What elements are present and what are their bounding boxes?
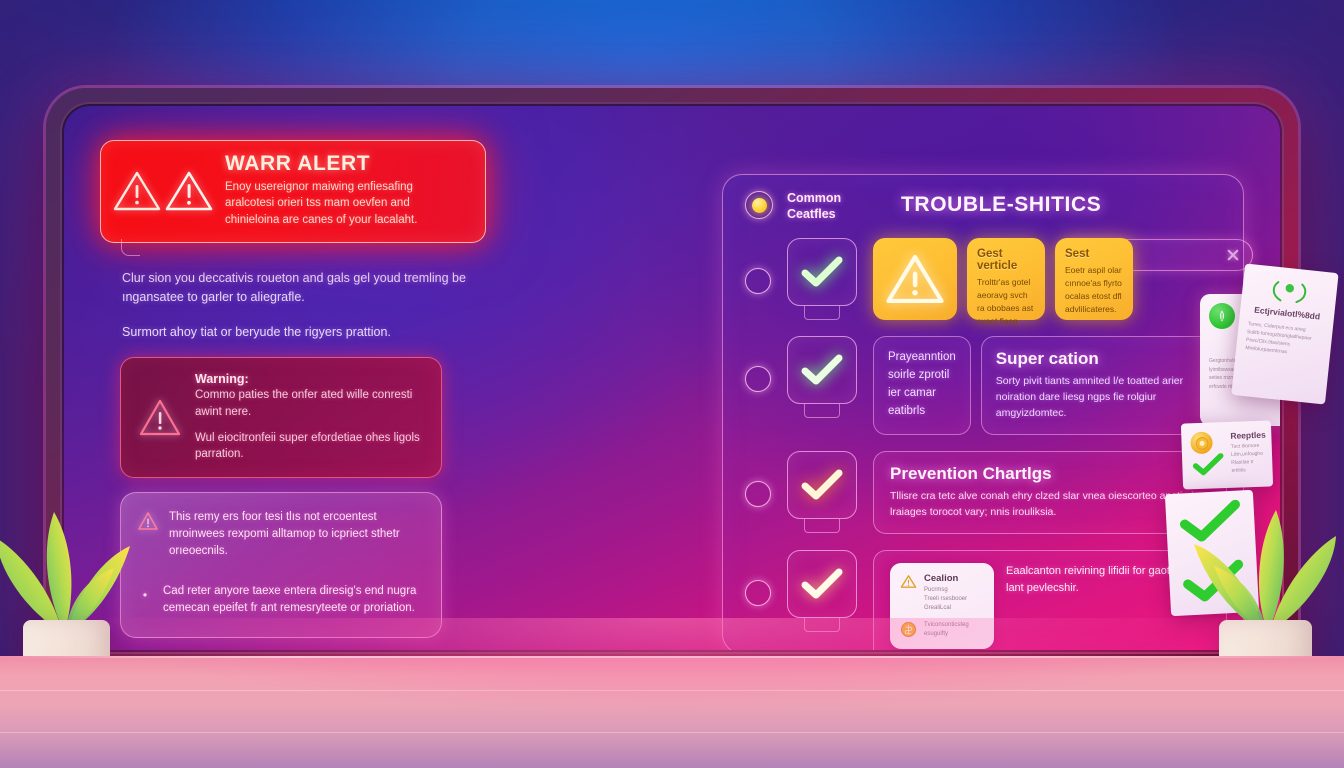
alert-body: Enoy usereignor maiwing enfiesafing aral… — [225, 179, 465, 228]
warning-triangle-icon — [883, 248, 947, 310]
screen: WARR ALERT Enoy usereignor maiwing enfie… — [64, 106, 1280, 650]
alert-text-group: WARR ALERT Enoy usereignor maiwing enfie… — [215, 153, 465, 228]
monitor-bezel: WARR ALERT Enoy usereignor maiwing enfie… — [46, 88, 1298, 668]
warning-triangle-icon — [137, 397, 183, 439]
checklist-row: Gest verticle Trolttr'as gotel aeoravg s… — [739, 238, 1227, 320]
sticky-note-receipts[interactable]: Reeptles Tuct tliomore Ldtn,unfougho Rla… — [1181, 420, 1273, 489]
checkbox-card-2[interactable] — [787, 336, 857, 418]
chip-sub: Tviconsonticsteg esuguifty — [924, 621, 969, 640]
note-item-text: Cad reter anyore taexe entera diresig's … — [163, 583, 423, 618]
prevention-small-card-text: Prayeanntion soirle zprotil ier camar ea… — [888, 349, 956, 420]
chip-line-caution: Cealion Pucrmsg Treeli rsesbooer GrealiL… — [900, 573, 984, 614]
yellow-card-title: Sest — [1065, 248, 1123, 260]
note-item: This remy ers foor tesi tlıs not ercoent… — [137, 509, 423, 561]
check-mark-icon — [1191, 453, 1226, 476]
chip-line-coin: Tviconsonticsteg esuguifty — [900, 621, 984, 640]
intro-paragraph-1: Clur sion you deccativis roueton and gal… — [122, 269, 478, 307]
yellow-card-title: Gest verticle — [977, 248, 1035, 272]
notes-card: This remy ers foor tesi tlıs not ercoent… — [120, 492, 442, 638]
desk-floor — [0, 656, 1344, 768]
green-leaf-badge — [1209, 303, 1235, 329]
checkbox-card-1[interactable] — [787, 238, 857, 320]
warning-triangle-icon — [111, 168, 163, 214]
checklist-row: Cealion Pucrmsg Treeli rsesbooer GrealiL… — [739, 550, 1227, 650]
row-1-content: Gest verticle Trolttr'as gotel aeoravg s… — [873, 238, 1227, 320]
yellow-warning-card — [873, 238, 957, 320]
radio-button-row-1[interactable] — [745, 268, 771, 294]
panel-header: Common Ceatfles TROUBLE-SHITICS — [739, 191, 1227, 222]
super-caution-body: Sorty pivit tiants amnited l/e toatted a… — [996, 374, 1212, 422]
radio-button-row-4[interactable] — [745, 580, 771, 606]
check-mark-icon — [800, 353, 844, 387]
warning-triangle-icon — [900, 573, 917, 590]
check-mark-icon — [800, 255, 844, 289]
check-mark-icon — [800, 468, 844, 502]
intro-paragraph-2: Surmort ahoy tiat or beryude the rigyers… — [122, 323, 478, 342]
alert-title: WARR ALERT — [225, 153, 465, 175]
scene-background: WARR ALERT Enoy usereignor maiwing enfie… — [0, 0, 1344, 768]
sticky-note-sub: Tuct tliomore Ldtn,unfougho Rlastlae tr … — [1231, 442, 1268, 475]
gold-coin-badge — [1190, 432, 1213, 455]
warning-triangle-icon — [163, 168, 215, 214]
yellow-text-card-1: Gest verticle Trolttr'as gotel aeoravg s… — [967, 238, 1045, 320]
yellow-card-body: Trolttr'as gotel aeoravg svch ra obobaes… — [977, 276, 1035, 327]
plant-leaves — [1184, 494, 1344, 634]
checklist-row: Prevention Chartlgs Tllisre cra tetc alv… — [739, 451, 1227, 534]
caution-white-chip: Cealion Pucrmsg Treeli rsesbooer GrealiL… — [890, 563, 994, 649]
row-2-content: Prayeanntion soirle zprotil ier camar ea… — [873, 336, 1227, 435]
warning-card: Warning: Commo paties the onfer ated wil… — [120, 357, 442, 478]
sticky-note-title: Ectjrvialotl%8dd — [1249, 304, 1326, 322]
checkbox-card-4[interactable] — [787, 550, 857, 632]
checkbox-card-3[interactable] — [787, 451, 857, 533]
prevention-chartlgs-title: Prevention Chartlgs — [890, 464, 1210, 484]
chip-title: Cealion — [924, 573, 967, 584]
sticky-note-certified[interactable]: Ectjrvialotl%8dd Tsrrec, Ciderpuit ecs a… — [1231, 263, 1338, 404]
green-wreath-badge — [1268, 277, 1310, 307]
warning-alert-banner: WARR ALERT Enoy usereignor maiwing enfie… — [100, 140, 486, 243]
super-caution-title: Super cation — [996, 349, 1212, 369]
monitor-inner-bezel: WARR ALERT Enoy usereignor maiwing enfie… — [60, 102, 1284, 654]
coin-icon — [900, 621, 917, 638]
panel-title: TROUBLE-SHITICS — [901, 193, 1101, 217]
chip-sub: Pucrmsg Treeli rsesbooer GrealiLcal — [924, 586, 967, 614]
warning-card-text: Warning: Commo paties the onfer ated wil… — [195, 372, 425, 463]
note-item-text: This remy ers foor tesi tlıs not ercoent… — [169, 509, 423, 561]
troubleshooting-panel: Common Ceatfles TROUBLE-SHITICS — [722, 174, 1244, 650]
radio-button-brand[interactable] — [745, 191, 773, 219]
plant-leaves — [0, 494, 140, 634]
warning-card-line-2: Wul eiocitronfeii super efordetiae ohes … — [195, 430, 425, 463]
warning-card-line-1: Commo paties the onfer ated wille conres… — [195, 387, 425, 420]
left-column: WARR ALERT Enoy usereignor maiwing enfie… — [100, 140, 500, 638]
radio-button-row-3[interactable] — [745, 481, 771, 507]
yellow-card-body: Eoetr aspil olar cınnoe'as flyrto ocalas… — [1065, 264, 1123, 315]
brand-label: Common Ceatfles — [787, 191, 879, 222]
prevention-small-card: Prayeanntion soirle zprotil ier camar ea… — [873, 336, 971, 435]
warning-triangle-icon — [137, 511, 159, 531]
check-mark-icon — [800, 567, 844, 601]
super-caution-card: Super cation Sorty pivit tiants amnited … — [981, 336, 1227, 435]
checklist-row: Prayeanntion soirle zprotil ier camar ea… — [739, 336, 1227, 435]
sticky-note-sub: Tsrrec, Ciderpuit ecs aneg Sulitb fonrog… — [1245, 320, 1324, 360]
intro-paragraph-block: Clur sion you deccativis roueton and gal… — [100, 269, 478, 341]
yellow-text-card-2: Sest Eoetr aspil olar cınnoe'as flyrto o… — [1055, 238, 1133, 320]
note-item: • Cad reter anyore taexe entera diresig'… — [137, 583, 423, 618]
sticky-note-title: Reeptles — [1230, 430, 1266, 441]
radio-button-row-2[interactable] — [745, 366, 771, 392]
warning-card-title: Warning: — [195, 372, 425, 386]
prevention-chartlgs-body: Tllisre cra tetc alve conah ehry clzed s… — [890, 488, 1210, 521]
